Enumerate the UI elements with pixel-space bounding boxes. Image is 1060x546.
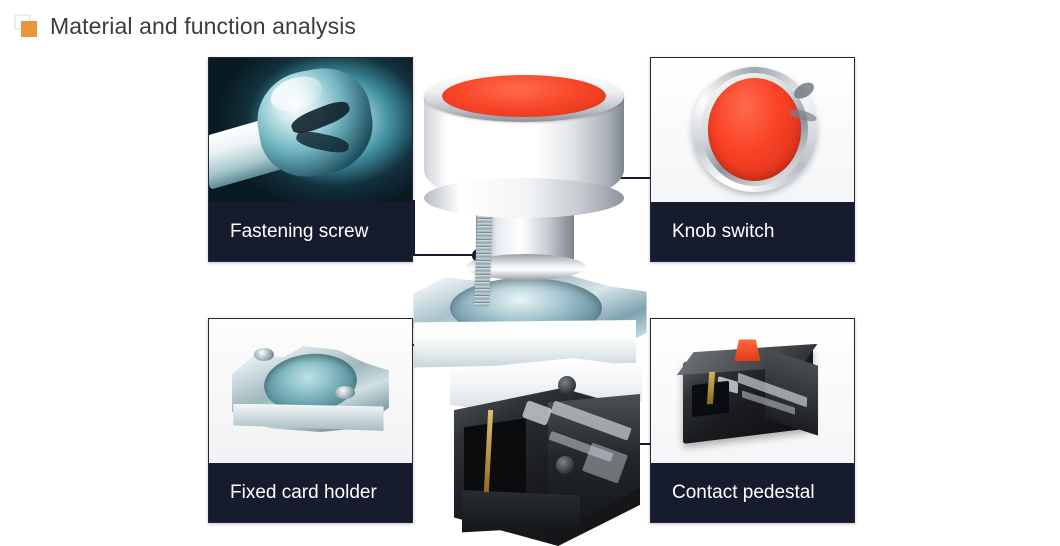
page-title: Material and function analysis bbox=[50, 15, 356, 38]
diagram-stage: Material and function analysis bbox=[0, 0, 1060, 538]
callout-label-fixed-card-holder: Fixed card holder bbox=[209, 483, 377, 502]
callout-label-fastening-screw: Fastening screw bbox=[209, 222, 368, 241]
hero-red-button-cap bbox=[442, 75, 606, 117]
hero-terminal-screw-top bbox=[558, 376, 576, 394]
callout-photo-contact-pedestal bbox=[651, 319, 854, 465]
header-squares-icon bbox=[14, 14, 40, 38]
callout-label-knob-switch: Knob switch bbox=[651, 222, 774, 241]
callout-label-contact-pedestal: Contact pedestal bbox=[651, 483, 815, 502]
card-holder-art bbox=[209, 319, 412, 465]
callout-caption-fixed-card-holder: Fixed card holder bbox=[209, 463, 412, 522]
contact-pedestal-art bbox=[651, 319, 854, 465]
callout-caption-contact-pedestal: Contact pedestal bbox=[651, 463, 854, 522]
holder-front-face bbox=[233, 404, 383, 439]
screw-closeup-art bbox=[209, 58, 412, 204]
callout-photo-fixed-card-holder bbox=[209, 319, 412, 465]
callout-fixed-card-holder[interactable]: Fixed card holder bbox=[208, 318, 413, 523]
callout-fastening-screw[interactable]: Fastening screw bbox=[208, 57, 413, 262]
callout-photo-knob-switch bbox=[651, 58, 854, 204]
callout-caption-fastening-screw: Fastening screw bbox=[209, 202, 412, 261]
knob-switch-art bbox=[651, 58, 854, 204]
callout-photo-fastening-screw bbox=[209, 58, 412, 204]
hero-terminal-screw-bottom bbox=[556, 456, 574, 474]
callout-caption-knob-switch: Knob switch bbox=[651, 202, 854, 261]
callout-contact-pedestal[interactable]: Contact pedestal bbox=[650, 318, 855, 523]
page-header: Material and function analysis bbox=[0, 0, 1060, 52]
knob-red-cap bbox=[708, 78, 801, 180]
square-filled-icon bbox=[21, 21, 37, 37]
callout-knob-switch[interactable]: Knob switch bbox=[650, 57, 855, 262]
contact-orange-plunger bbox=[734, 339, 760, 361]
